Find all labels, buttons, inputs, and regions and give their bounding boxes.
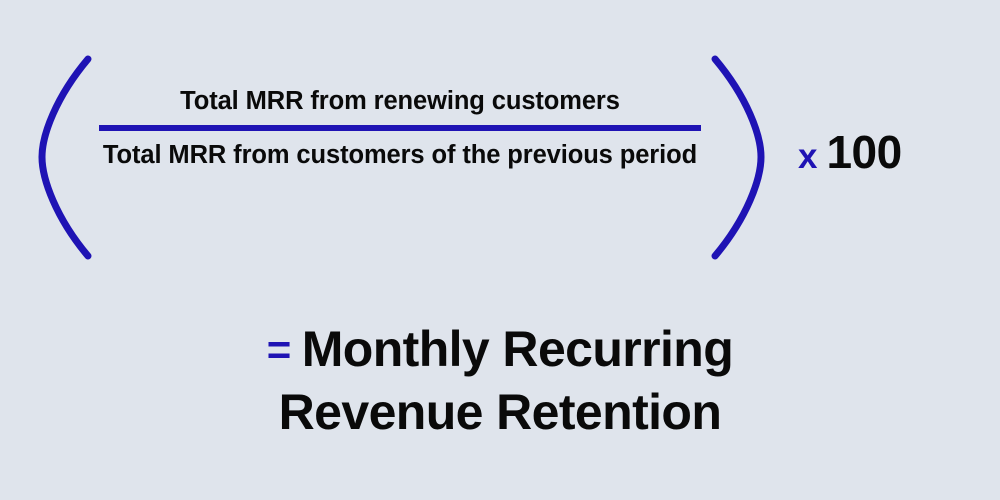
fraction-numerator: Total MRR from renewing customers	[99, 86, 701, 117]
fraction: Total MRR from renewing customers Total …	[99, 86, 701, 171]
close-paren-icon	[705, 55, 765, 260]
result-label-line-2: Revenue Retention	[0, 381, 1000, 443]
formula-canvas: Total MRR from renewing customers Total …	[0, 0, 1000, 500]
equals-symbol: =	[267, 326, 291, 373]
multiplier-group: x 100	[798, 129, 902, 175]
formula-expression: Total MRR from renewing customers Total …	[0, 0, 1000, 290]
open-paren-icon	[38, 55, 98, 260]
multiply-symbol: x	[798, 139, 817, 174]
fraction-bar	[99, 125, 701, 131]
fraction-denominator: Total MRR from customers of the previous…	[99, 140, 701, 171]
result-label-line-1: Monthly Recurring	[302, 321, 733, 377]
result-line-1: =Monthly Recurring	[0, 318, 1000, 381]
result-block: =Monthly Recurring Revenue Retention	[0, 318, 1000, 443]
multiply-value: 100	[826, 129, 901, 175]
